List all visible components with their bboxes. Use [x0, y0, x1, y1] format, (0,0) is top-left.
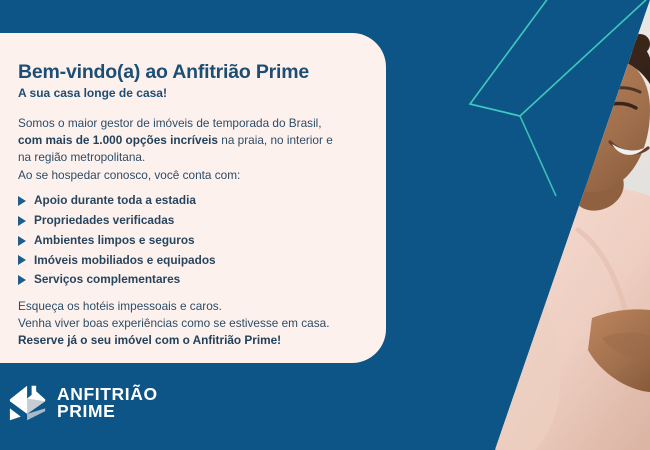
list-item-label: Propriedades verificadas: [34, 215, 174, 227]
list-item-label: Serviços complementares: [34, 274, 180, 286]
content-card: Bem-vindo(a) ao Anfitrião Prime A sua ca…: [0, 33, 386, 363]
page-subtitle: A sua casa longe de casa!: [18, 86, 346, 100]
benefits-list: Apoio durante toda a estadia Propriedade…: [18, 195, 346, 286]
intro-highlight: com mais de 1.000 opções incríveis: [18, 133, 218, 147]
house-roof-icon: [8, 384, 48, 422]
closing-line-1: Esqueça os hotéis impessoais e caros.: [18, 298, 346, 315]
list-item: Propriedades verificadas: [18, 215, 346, 227]
hero-photo: [378, 0, 650, 450]
list-item-label: Apoio durante toda a estadia: [34, 195, 196, 207]
list-item: Ambientes limpos e seguros: [18, 235, 346, 247]
page-title: Bem-vindo(a) ao Anfitrião Prime: [18, 61, 346, 83]
closing-line-2: Venha viver boas experiências como se es…: [18, 315, 346, 332]
closing-block: Esqueça os hotéis impessoais e caros. Ve…: [18, 298, 346, 348]
triangle-bullet-icon: [18, 196, 26, 206]
benefits-lead: Ao se hospedar conosco, você conta com:: [18, 167, 346, 184]
list-item-label: Ambientes limpos e seguros: [34, 235, 195, 247]
intro-part1: Somos o maior gestor de imóveis de tempo…: [18, 116, 322, 130]
triangle-bullet-icon: [18, 236, 26, 246]
promo-banner: Bem-vindo(a) ao Anfitrião Prime A sua ca…: [0, 0, 650, 450]
list-item: Imóveis mobiliados e equipados: [18, 255, 346, 267]
triangle-bullet-icon: [18, 216, 26, 226]
intro-paragraph: Somos o maior gestor de imóveis de tempo…: [18, 115, 346, 166]
brand-name-line2: PRIME: [57, 403, 158, 420]
list-item: Serviços complementares: [18, 274, 346, 286]
hero-photo-illustration: [378, 0, 650, 450]
brand-logo: ANFITRIÃO PRIME: [8, 384, 158, 422]
brand-wordmark: ANFITRIÃO PRIME: [57, 386, 158, 420]
list-item-label: Imóveis mobiliados e equipados: [34, 255, 216, 267]
triangle-bullet-icon: [18, 275, 26, 285]
list-item: Apoio durante toda a estadia: [18, 195, 346, 207]
call-to-action-text: Reserve já o seu imóvel com o Anfitrião …: [18, 332, 346, 349]
triangle-bullet-icon: [18, 255, 26, 265]
